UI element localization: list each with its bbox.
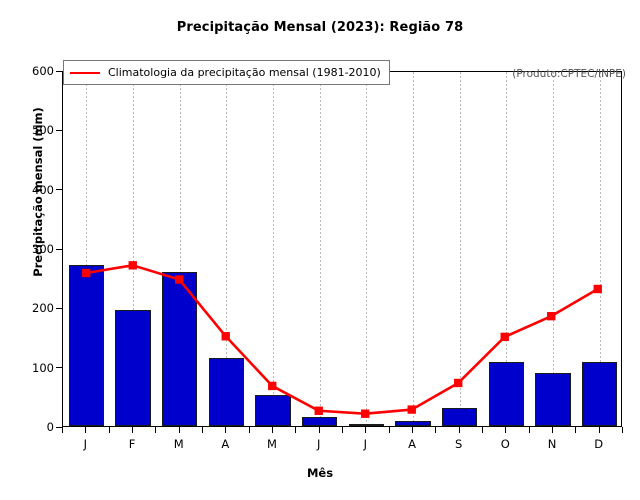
x-tick-label: M: [174, 437, 184, 451]
x-tick-mark-minor: [109, 427, 110, 433]
climatology-line: [86, 265, 597, 413]
x-tick-mark-minor: [249, 427, 250, 433]
x-tick-mark: [225, 427, 226, 433]
x-tick-mark: [459, 427, 460, 433]
x-tick-mark: [599, 427, 600, 433]
x-tick-mark: [319, 427, 320, 433]
x-tick-mark: [85, 427, 86, 433]
climatology-marker: [129, 261, 137, 269]
x-tick-label: A: [221, 437, 229, 451]
climatology-marker: [501, 333, 509, 341]
x-tick-mark-minor: [435, 427, 436, 433]
climatology-marker: [408, 405, 416, 413]
climatology-line-series: [63, 72, 621, 427]
x-tick-mark-minor: [202, 427, 203, 433]
x-axis-label: Mês: [0, 466, 640, 480]
x-tick-mark-minor: [575, 427, 576, 433]
x-tick-label: F: [129, 437, 136, 451]
x-tick-mark: [179, 427, 180, 433]
x-tick-mark: [505, 427, 506, 433]
x-tick-mark-minor: [342, 427, 343, 433]
x-tick-mark-minor: [389, 427, 390, 433]
x-tick-label: A: [408, 437, 416, 451]
x-tick-label: M: [267, 437, 277, 451]
climatology-marker: [82, 269, 90, 277]
x-tick-mark-minor: [622, 427, 623, 433]
climatology-marker: [268, 382, 276, 390]
y-axis-tick-labels: 0100200300400500600: [0, 0, 54, 500]
x-tick-mark-minor: [295, 427, 296, 433]
legend-entry-label: Climatologia da precipitação mensal (198…: [108, 66, 381, 79]
x-tick-label: J: [364, 437, 367, 451]
x-tick-label: J: [317, 437, 320, 451]
x-tick-mark-minor: [62, 427, 63, 433]
climatology-marker: [547, 312, 555, 320]
x-tick-label: N: [548, 437, 557, 451]
x-tick-mark: [132, 427, 133, 433]
chart-legend: Climatologia da precipitação mensal (198…: [63, 60, 390, 85]
x-tick-label: O: [501, 437, 510, 451]
climatology-marker: [594, 285, 602, 293]
x-tick-mark-minor: [482, 427, 483, 433]
y-axis-label: Precipitação mensal (mm): [31, 62, 45, 322]
chart-figure: Precipitação Mensal (2023): Região 78 01…: [0, 0, 640, 500]
y-tick-label: 100: [32, 361, 54, 375]
climatology-marker: [175, 275, 183, 283]
climatology-marker: [361, 410, 369, 418]
x-tick-label: J: [84, 437, 87, 451]
climatology-marker: [315, 407, 323, 415]
x-tick-mark: [365, 427, 366, 433]
x-tick-mark: [552, 427, 553, 433]
x-tick-mark-minor: [529, 427, 530, 433]
y-tick-label: 0: [47, 420, 54, 434]
legend-line-swatch: [70, 72, 100, 74]
source-annotation: (Produto:CPTEC/INPE): [512, 68, 626, 80]
x-tick-mark-minor: [155, 427, 156, 433]
climatology-marker: [454, 379, 462, 387]
x-tick-mark: [412, 427, 413, 433]
x-tick-label: S: [455, 437, 462, 451]
chart-title: Precipitação Mensal (2023): Região 78: [0, 20, 640, 35]
x-tick-mark: [272, 427, 273, 433]
plot-area: [62, 71, 622, 427]
climatology-marker: [222, 332, 230, 340]
x-tick-label: D: [594, 437, 603, 451]
